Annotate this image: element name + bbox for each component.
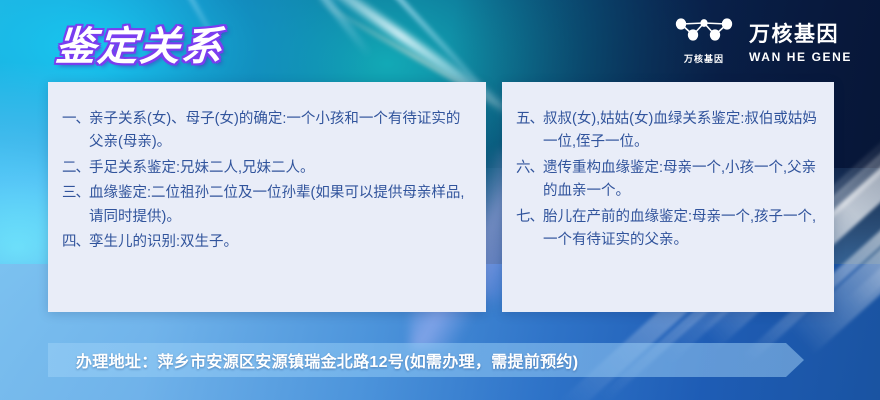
- logo-wordmark: 万核基因 WAN HE GENE: [749, 18, 852, 64]
- logo-mark: 万核基因: [673, 16, 735, 65]
- list-item-text: 亲子关系(女)、母子(女)的确定:一个小孩和一个有待证实的父亲(母亲)。: [89, 108, 472, 155]
- address-text: 办理地址：萍乡市安源区安源镇瑞金北路12号(如需办理，需提前预约): [76, 343, 578, 377]
- list-item: 五、 叔叔(女),姑姑(女)血绿关系鉴定:叔伯或姑妈一位,侄子一位。: [516, 108, 820, 155]
- list-item-text: 遗传重构血缘鉴定:母亲一个,小孩一个,父亲的血亲一个。: [543, 157, 820, 204]
- logo-name-en: WAN HE GENE: [749, 50, 852, 64]
- list-item: 七、 胎儿在产前的血缘鉴定:母亲一个,孩子一个,一个有待证实的父亲。: [516, 206, 820, 253]
- list-item-number: 七、: [516, 206, 543, 229]
- list-item-number: 五、: [516, 108, 543, 131]
- list-item-number: 六、: [516, 157, 543, 180]
- panel-left: 一、 亲子关系(女)、母子(女)的确定:一个小孩和一个有待证实的父亲(母亲)。 …: [48, 82, 486, 312]
- list-item-number: 四、: [62, 231, 89, 254]
- list-item-number: 一、: [62, 108, 89, 131]
- list-item: 三、 血缘鉴定:二位祖孙二位及一位孙辈(如果可以提供母亲样品,请同时提供)。: [62, 182, 472, 229]
- list-item-text: 胎儿在产前的血缘鉴定:母亲一个,孩子一个,一个有待证实的父亲。: [543, 206, 820, 253]
- list-item: 六、 遗传重构血缘鉴定:母亲一个,小孩一个,父亲的血亲一个。: [516, 157, 820, 204]
- logo-name-cn: 万核基因: [749, 18, 839, 48]
- list-item: 一、 亲子关系(女)、母子(女)的确定:一个小孩和一个有待证实的父亲(母亲)。: [62, 108, 472, 155]
- brand-logo: 万核基因 万核基因 WAN HE GENE: [673, 16, 852, 65]
- list-item-number: 三、: [62, 182, 89, 205]
- poster-root: 鉴定关系: [0, 0, 880, 400]
- list-item: 四、 孪生儿的识别:双生子。: [62, 231, 472, 254]
- panel-right: 五、 叔叔(女),姑姑(女)血绿关系鉴定:叔伯或姑妈一位,侄子一位。 六、 遗传…: [502, 82, 834, 312]
- list-item-text: 手足关系鉴定:兄妹二人,兄妹二人。: [89, 157, 472, 180]
- dna-molecule-icon: [673, 16, 735, 49]
- page-title: 鉴定关系: [54, 14, 226, 72]
- address-bar: 办理地址：萍乡市安源区安源镇瑞金北路12号(如需办理，需提前预约): [48, 343, 804, 377]
- list-item-text: 叔叔(女),姑姑(女)血绿关系鉴定:叔伯或姑妈一位,侄子一位。: [543, 108, 820, 155]
- list-item-text: 孪生儿的识别:双生子。: [89, 231, 472, 254]
- list-item-number: 二、: [62, 157, 89, 180]
- list-item: 二、 手足关系鉴定:兄妹二人,兄妹二人。: [62, 157, 472, 180]
- logo-mark-caption: 万核基因: [684, 52, 724, 65]
- list-item-text: 血缘鉴定:二位祖孙二位及一位孙辈(如果可以提供母亲样品,请同时提供)。: [89, 182, 472, 229]
